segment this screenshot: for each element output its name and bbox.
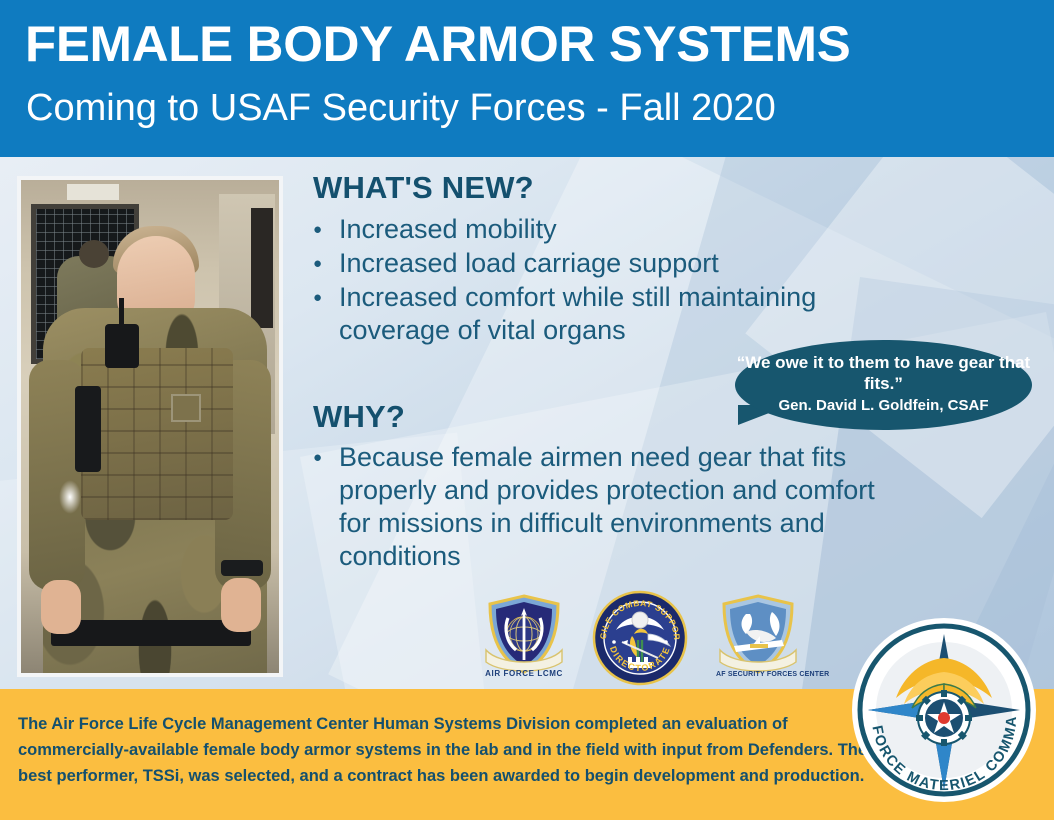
photo-hand-left	[41, 580, 81, 634]
shield-icon: AF SECURITY FORCES CENTER	[716, 592, 800, 680]
emblem-label: AF SECURITY FORCES CENTER	[716, 671, 800, 678]
section-heading-why: WHY?	[313, 399, 405, 435]
airman-photo-frame	[17, 176, 283, 677]
emblem-af-security-forces-center: AF SECURITY FORCES CENTER	[716, 592, 800, 680]
footer-text: The Air Force Life Cycle Management Cent…	[18, 711, 868, 789]
list-item: Because female airmen need gear that fit…	[313, 441, 898, 573]
page-title: FEMALE BODY ARMOR SYSTEMS	[25, 19, 850, 69]
list-item: Increased load carriage support	[313, 247, 888, 280]
quote-attribution: Gen. David L. Goldfein, CSAF	[735, 397, 1032, 414]
emblem-agile-combat-support-directorate: AGILE COMBAT SUPPORT DIRECTORATE	[592, 590, 688, 686]
photo-duty-belt	[51, 620, 251, 646]
photo-flash-glare	[59, 480, 81, 514]
photo-hand-right	[221, 578, 261, 632]
header-banner: FEMALE BODY ARMOR SYSTEMS Coming to USAF…	[0, 0, 1054, 157]
quote-text: “We owe it to them to have gear that fit…	[735, 352, 1032, 394]
list-item: Increased mobility	[313, 213, 888, 246]
circular-emblem-icon: AGILE COMBAT SUPPORT DIRECTORATE	[592, 590, 688, 686]
emblem-air-force-lcmc: AIR FORCE LCMC	[482, 592, 566, 680]
page-subtitle: Coming to USAF Security Forces - Fall 20…	[26, 89, 776, 127]
shield-icon: AIR FORCE LCMC	[482, 592, 566, 680]
quote-bubble: “We owe it to them to have gear that fit…	[735, 340, 1032, 430]
emblem-label: AIR FORCE LCMC	[482, 669, 566, 678]
photo-rank-patch	[171, 394, 201, 422]
airman-photo	[21, 180, 279, 673]
section-heading-whats-new: WHAT'S NEW?	[313, 170, 534, 206]
photo-body-armor-vest	[81, 348, 233, 520]
list-item: Increased comfort while still maintainin…	[313, 281, 888, 347]
emblem-air-force-materiel-command: AIR FORCE MATERIEL COMMAND	[848, 614, 1040, 806]
photo-panel	[251, 208, 273, 328]
why-bullet-list: Because female airmen need gear that fit…	[313, 441, 898, 574]
photo-radio	[105, 324, 139, 368]
photo-sign	[67, 184, 119, 200]
photo-wristwatch	[221, 560, 263, 576]
photo-holster	[75, 386, 101, 472]
whats-new-bullet-list: Increased mobility Increased load carria…	[313, 213, 888, 348]
infographic-poster: FEMALE BODY ARMOR SYSTEMS Coming to USAF…	[0, 0, 1054, 820]
